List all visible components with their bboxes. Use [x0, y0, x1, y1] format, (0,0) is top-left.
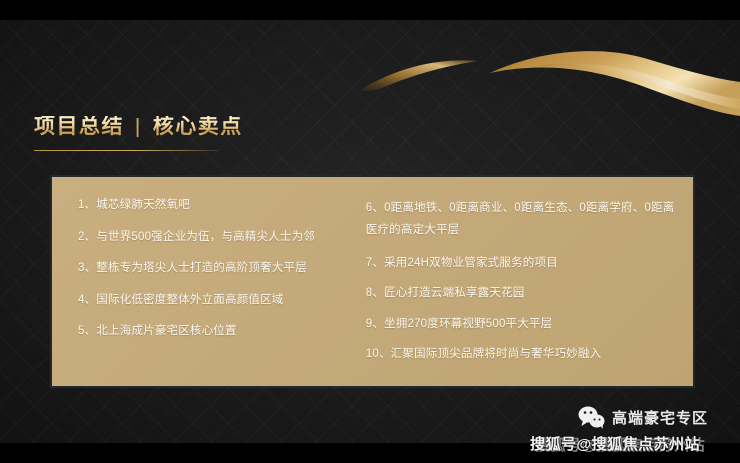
list-item: 1、城芯绿肺天然氧吧 — [78, 198, 354, 214]
title-divider: | — [133, 117, 144, 137]
page-title-primary: 项目总结 — [34, 116, 124, 137]
list-item: 9、坐拥270度环幕视野500平大平层 — [366, 317, 679, 333]
watermark: 搜狐号@搜狐焦点苏州站 搜狐号@搜狐焦点苏州站 — [530, 433, 740, 459]
page-title: 项目总结 | 核心卖点 — [34, 116, 243, 137]
list-item: 7、采用24H双物业管家式服务的项目 — [366, 256, 679, 272]
list-item: 8、匠心打造云端私享露天花园 — [366, 286, 679, 302]
slide-canvas: 项目总结 | 核心卖点 1、城芯绿肺天然氧吧 2、与世界500强企业为伍，与高精… — [0, 0, 740, 463]
wechat-account-badge: 高端豪宅专区 — [578, 406, 708, 429]
title-underline — [34, 150, 218, 151]
wechat-account-name: 高端豪宅专区 — [612, 407, 708, 428]
selling-points-right-column: 6、0距离地铁、0距离商业、0距离生态、0距离学府、0距离医疗的高定大平层 7、… — [354, 195, 679, 372]
list-item: 6、0距离地铁、0距离商业、0距离生态、0距离学府、0距离医疗的高定大平层 — [366, 198, 679, 242]
selling-points-panel: 1、城芯绿肺天然氧吧 2、与世界500强企业为伍，与高精尖人士为邻 3、整栋专为… — [50, 175, 695, 388]
letterbox-bar-top — [0, 0, 740, 20]
watermark-text: 搜狐号@搜狐焦点苏州站 — [530, 433, 700, 454]
slide-background: 项目总结 | 核心卖点 1、城芯绿肺天然氧吧 2、与世界500强企业为伍，与高精… — [0, 20, 740, 443]
list-item: 2、与世界500强企业为伍，与高精尖人士为邻 — [78, 230, 354, 246]
list-item: 5、北上海成片豪宅区核心位置 — [78, 324, 354, 340]
gold-ribbon-decoration — [330, 20, 740, 130]
list-item: 4、国际化低密度整体外立面高颜值区域 — [78, 293, 354, 309]
selling-points-left-column: 1、城芯绿肺天然氧吧 2、与世界500强企业为伍，与高精尖人士为邻 3、整栋专为… — [66, 195, 354, 372]
list-item: 10、汇聚国际顶尖品牌将时尚与奢华巧妙融入 — [366, 347, 679, 363]
page-title-secondary: 核心卖点 — [153, 116, 243, 137]
wechat-icon — [578, 406, 605, 429]
list-item: 3、整栋专为塔尖人士打造的高阶顶奢大平层 — [78, 261, 354, 277]
